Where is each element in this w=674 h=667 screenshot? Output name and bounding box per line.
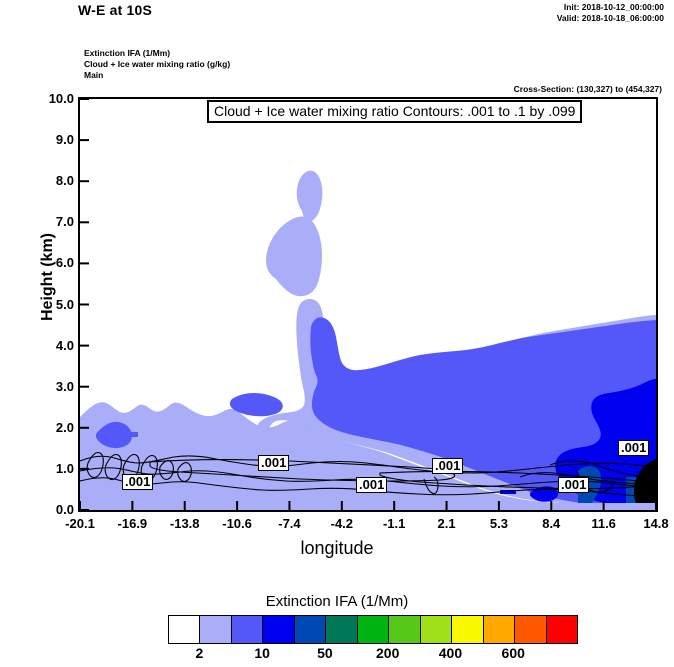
x-tick-label: -20.1 bbox=[50, 516, 110, 531]
field-description-block: Extinction IFA (1/Mm) Cloud + Ice water … bbox=[84, 48, 230, 81]
x-tick-label: 5.3 bbox=[469, 516, 529, 531]
colorbar-tick-label: 10 bbox=[237, 645, 287, 661]
colorbar-tick-label: 600 bbox=[488, 645, 538, 661]
x-tick-label: 2.1 bbox=[417, 516, 477, 531]
colorbar-cell bbox=[295, 616, 326, 643]
y-tick-label: 4.0 bbox=[28, 338, 74, 353]
x-tick-label: -10.6 bbox=[207, 516, 267, 531]
colorbar-cell bbox=[232, 616, 263, 643]
init-time-label: Init: 2018-10-12_00:00:00 bbox=[564, 2, 664, 12]
y-tick-label: 3.0 bbox=[28, 379, 74, 394]
colorbar-cell bbox=[200, 616, 231, 643]
colorbar-cell bbox=[263, 616, 294, 643]
colorbar-cell bbox=[515, 616, 546, 643]
field-line-extinction: Extinction IFA (1/Mm) bbox=[84, 48, 230, 59]
colorbar-cell bbox=[484, 616, 515, 643]
y-tick-label: 8.0 bbox=[28, 173, 74, 188]
x-tick-label: -16.9 bbox=[102, 516, 162, 531]
x-tick-label: -1.1 bbox=[364, 516, 424, 531]
x-axis-tick-labels: -20.1-16.9-13.8-10.6-7.4-4.2-1.12.15.38.… bbox=[78, 516, 658, 536]
colorbar-cell bbox=[326, 616, 357, 643]
colorbar-tick-label: 50 bbox=[300, 645, 350, 661]
axis-tick-marks bbox=[78, 97, 658, 512]
colorbar-tick-labels: 21050200400600 bbox=[168, 645, 578, 665]
y-tick-label: 0.0 bbox=[28, 502, 74, 517]
colorbar-cell bbox=[452, 616, 483, 643]
contour-value-label: .001 bbox=[618, 440, 649, 456]
y-tick-label: 2.0 bbox=[28, 420, 74, 435]
x-tick-label: 14.8 bbox=[626, 516, 674, 531]
x-tick-label: -13.8 bbox=[155, 516, 215, 531]
contour-value-label: .001 bbox=[356, 477, 387, 493]
colorbar-tick-label: 2 bbox=[174, 645, 224, 661]
x-tick-label: 11.6 bbox=[574, 516, 634, 531]
colorbar-tick-label: 200 bbox=[363, 645, 413, 661]
x-axis-title: longitude bbox=[0, 538, 674, 559]
valid-time-label: Valid: 2018-10-18_06:00:00 bbox=[557, 13, 664, 23]
colorbar-cell bbox=[421, 616, 452, 643]
x-tick-label: -7.4 bbox=[259, 516, 319, 531]
x-tick-label: 8.4 bbox=[521, 516, 581, 531]
y-tick-label: 1.0 bbox=[28, 461, 74, 476]
colorbar-cell bbox=[169, 616, 200, 643]
y-tick-label: 10.0 bbox=[28, 91, 74, 106]
colorbar-cell bbox=[547, 616, 577, 643]
contour-value-label: .001 bbox=[258, 455, 289, 471]
cross-section-label: Cross-Section: (130,327) to (454,327) bbox=[514, 84, 662, 94]
contour-title-box: Cloud + Ice water mixing ratio Contours:… bbox=[207, 100, 582, 123]
field-line-mixing-ratio: Cloud + Ice water mixing ratio (g/kg) bbox=[84, 59, 230, 70]
field-line-main: Main bbox=[84, 70, 230, 81]
colorbar-tick-label: 400 bbox=[425, 645, 475, 661]
contour-value-label: .001 bbox=[432, 458, 463, 474]
y-axis-title: Height (km) bbox=[39, 217, 57, 337]
contour-value-label: .001 bbox=[558, 477, 589, 493]
colorbar-title: Extinction IFA (1/Mm) bbox=[0, 593, 674, 610]
contour-value-label: .001 bbox=[122, 474, 153, 490]
colorbar-cell bbox=[358, 616, 389, 643]
x-tick-label: -4.2 bbox=[312, 516, 372, 531]
y-tick-label: 9.0 bbox=[28, 132, 74, 147]
page-title: W-E at 10S bbox=[78, 2, 152, 18]
colorbar-cell bbox=[389, 616, 420, 643]
colorbar bbox=[168, 615, 578, 644]
